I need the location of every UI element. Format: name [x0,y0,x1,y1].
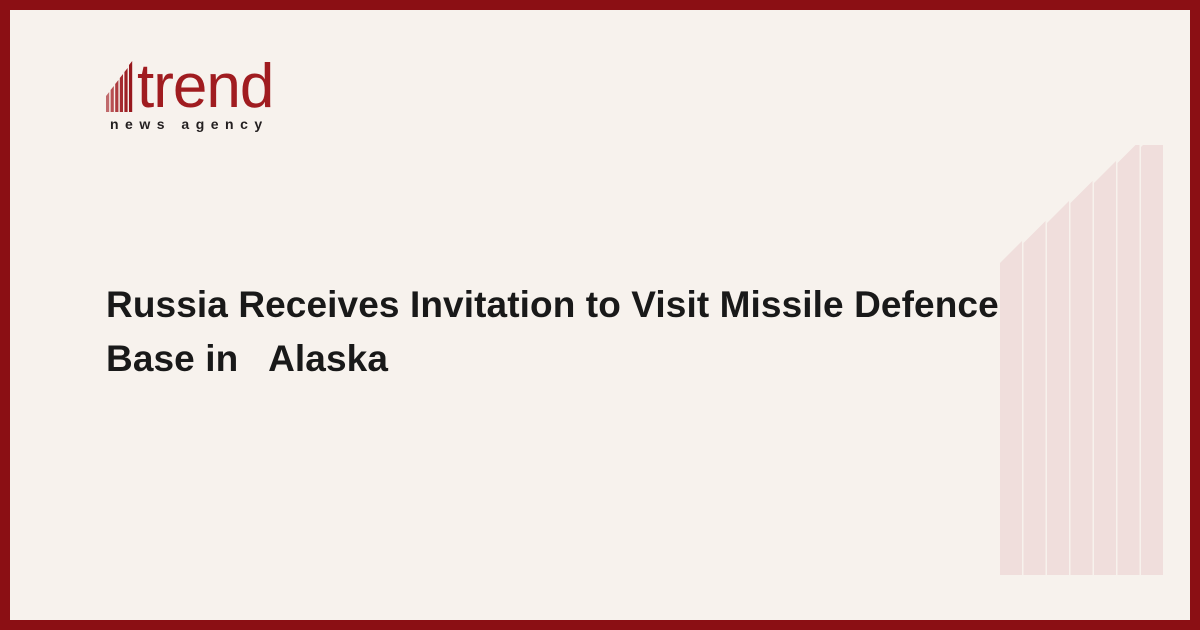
trend-news-agency-logo[interactable]: trend news agency [106,50,346,145]
ascending-bars-icon [106,54,136,112]
headline-title: Russia Receives Invitation to Visit Miss… [106,278,1026,386]
social-share-card: trend news agency Russia Receives Invita… [0,0,1200,630]
logo-wordmark: trend [137,58,273,116]
ascending-bars-decoration [1000,145,1180,585]
logo-row: trend [106,50,346,112]
